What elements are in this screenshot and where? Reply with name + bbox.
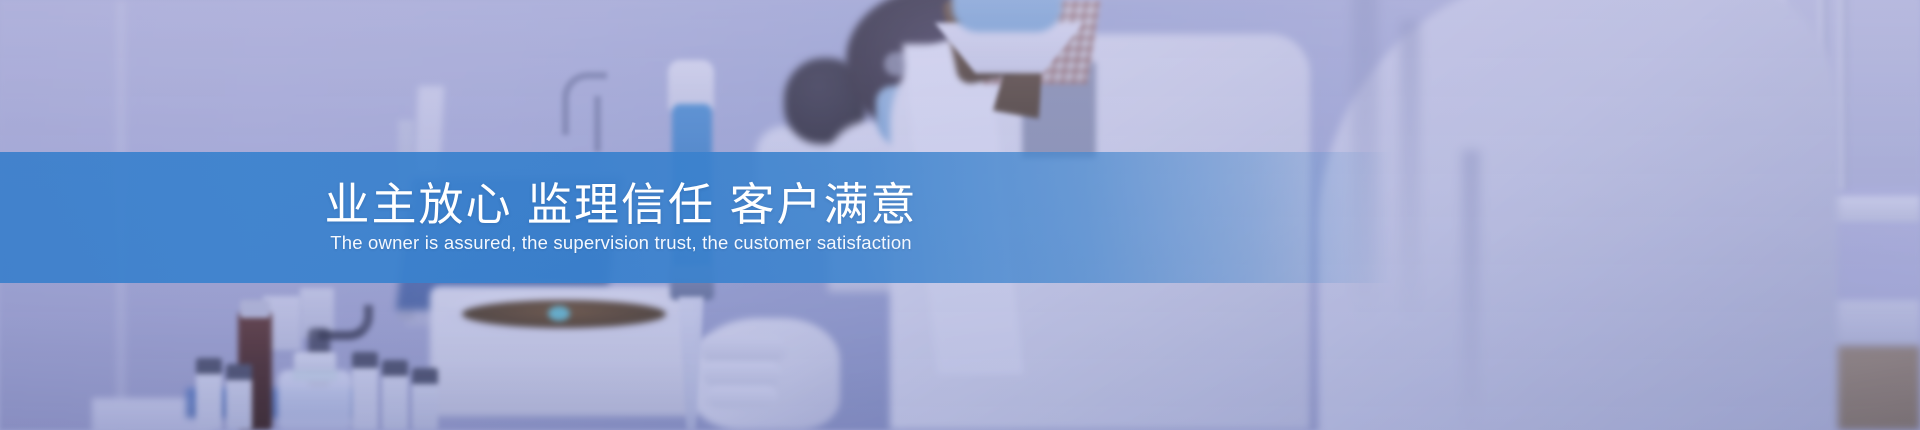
cardboard-box	[1828, 346, 1920, 430]
glove-finger	[702, 362, 782, 386]
sample-vial	[226, 364, 252, 430]
banner-subline: The owner is assured, the supervision tr…	[330, 231, 912, 254]
coat-fold	[1400, 20, 1420, 320]
coat-fold	[1462, 150, 1480, 430]
vial-cap	[352, 352, 378, 368]
right-person-shoulder	[1318, 0, 1838, 430]
vial-cap	[382, 360, 408, 376]
centrifuge-sample-chip	[548, 306, 570, 321]
lab-faucet-stem	[594, 96, 601, 152]
vial-cap	[412, 368, 438, 384]
sample-vial	[196, 358, 222, 430]
reagent-bottle-cap	[240, 300, 270, 318]
vertical-pole	[1838, 0, 1848, 190]
vial-cap	[196, 358, 222, 374]
slogan-band: 业主放心 监理信任 客户满意 The owner is assured, the…	[0, 152, 1392, 283]
hero-banner: 业主放心 监理信任 客户满意 The owner is assured, the…	[0, 0, 1920, 430]
glove-finger	[700, 336, 786, 362]
sample-vial	[382, 360, 408, 430]
doctor-face-mask	[952, 0, 1062, 32]
water-bottle	[278, 370, 352, 430]
vial-cap	[226, 364, 252, 380]
glove-finger	[706, 386, 778, 408]
banner-headline: 业主放心 监理信任 客户满意	[324, 181, 917, 230]
sample-vial	[412, 368, 438, 430]
sample-vial	[352, 352, 378, 430]
